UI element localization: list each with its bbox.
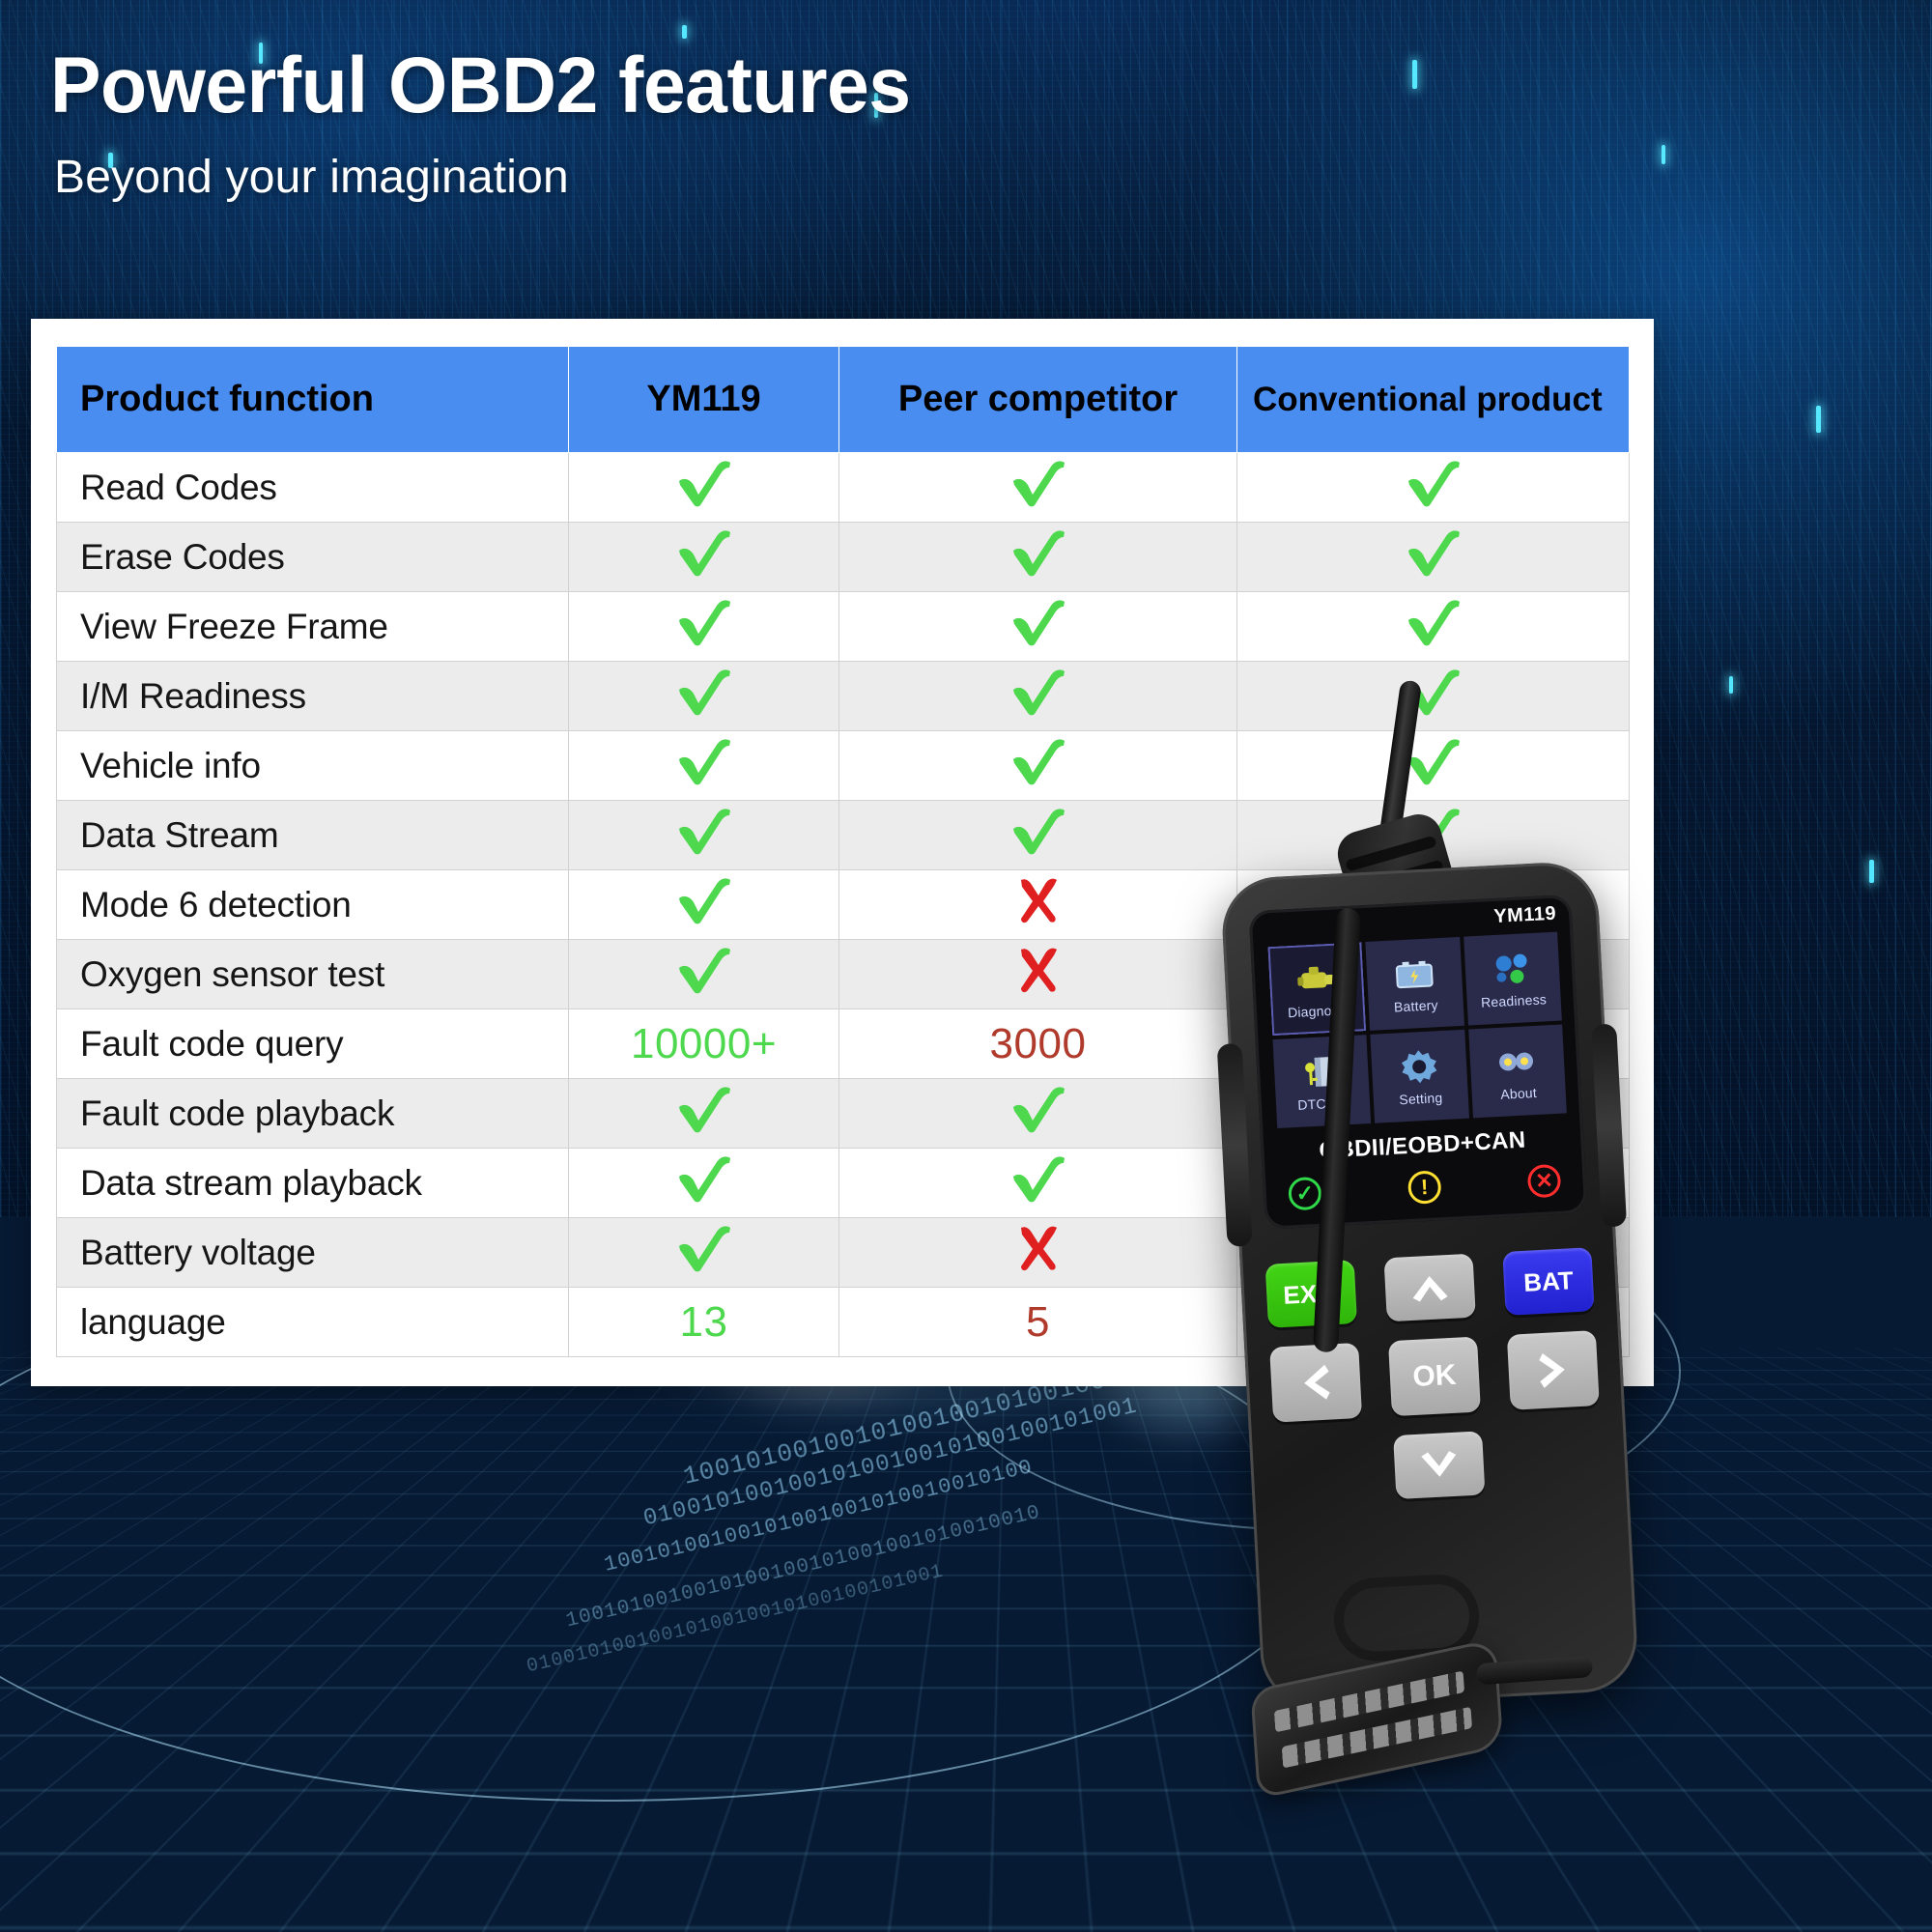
check-icon [1009,1153,1068,1204]
menu-tile-about[interactable]: About [1468,1024,1567,1118]
row-label: Read Codes [57,453,569,523]
check-icon [674,1223,734,1273]
cell-peer-competitor [839,731,1237,801]
gear-icon [1396,1046,1442,1087]
screen-protocol-label: OBDII/EOBD+CAN [1261,1123,1584,1167]
row-label: Fault code playback [57,1079,569,1149]
device-screen: YM119 DiagnosisBatteryReadinessDTC LibSe… [1249,895,1588,1230]
page-subtitle: Beyond your imagination [54,151,569,204]
cell-ym119: 13 [569,1288,839,1357]
value-text: 5 [1026,1298,1050,1346]
row-label: Battery voltage [57,1218,569,1288]
background-spark [682,25,687,39]
cell-conventional-product [1237,523,1630,592]
table-row: View Freeze Frame [57,592,1630,662]
menu-tile-readiness[interactable]: Readiness [1463,932,1562,1026]
up-button[interactable] [1383,1254,1475,1322]
page-title: Powerful OBD2 features [50,41,911,131]
check-icon [1009,667,1068,717]
check-icon [1404,597,1463,647]
cell-peer-competitor [839,592,1237,662]
status-ok-icon: ✓ [1288,1177,1322,1211]
cell-peer-competitor [839,1149,1237,1218]
molecule-icon [1489,948,1535,988]
info-icon [1493,1040,1540,1081]
cell-ym119 [569,1149,839,1218]
check-icon [1009,597,1068,647]
check-icon [1404,458,1463,508]
cell-ym119 [569,801,839,870]
check-icon [674,458,734,508]
row-label: Data stream playback [57,1149,569,1218]
left-button[interactable] [1269,1343,1362,1423]
down-button[interactable] [1393,1431,1485,1499]
menu-tile-dtc-lib[interactable]: DTC Lib [1272,1035,1371,1128]
row-label: Erase Codes [57,523,569,592]
background-spark [1412,60,1417,89]
row-label: View Freeze Frame [57,592,569,662]
status-warning-icon: ! [1407,1170,1442,1205]
cell-peer-competitor: 3000 [839,1009,1237,1079]
cross-icon [1013,1224,1064,1272]
device-body: YM119 DiagnosisBatteryReadinessDTC LibSe… [1220,860,1639,1709]
table-header: Product function YM119 Peer competitor C… [57,347,1630,453]
cell-peer-competitor [839,870,1237,940]
battery-test-button[interactable]: BAT [1502,1247,1594,1316]
cell-ym119 [569,731,839,801]
device-grip-right [1591,1024,1627,1228]
obd2-scanner-device: YM119 DiagnosisBatteryReadinessDTC LibSe… [1241,676,1918,1932]
cell-ym119: 10000+ [569,1009,839,1079]
menu-tile-setting[interactable]: Setting [1371,1030,1469,1123]
exit-button[interactable]: EXIT [1265,1260,1357,1328]
check-icon [674,597,734,647]
check-icon [1009,736,1068,786]
cell-peer-competitor [839,523,1237,592]
screen-menu-grid: DiagnosisBatteryReadinessDTC LibSettingA… [1267,932,1566,1128]
column-header-ym119: YM119 [569,347,839,453]
cell-conventional-product [1237,453,1630,523]
column-header-product-function: Product function [57,347,569,453]
cell-ym119 [569,592,839,662]
cell-ym119 [569,662,839,731]
row-label: Vehicle info [57,731,569,801]
value-text: 3000 [990,1020,1087,1067]
screen-model-label: YM119 [1493,903,1557,928]
column-header-conventional-product: Conventional product [1237,347,1630,453]
infographic-page: 1001010010010100100101001001010010010 01… [0,0,1932,1932]
cell-peer-competitor [839,453,1237,523]
cell-ym119 [569,1079,839,1149]
ok-button[interactable]: OK [1388,1337,1481,1417]
cell-ym119 [569,870,839,940]
check-icon [674,1153,734,1204]
check-icon [1009,527,1068,578]
row-label: Oxygen sensor test [57,940,569,1009]
check-icon [1009,806,1068,856]
cell-ym119 [569,940,839,1009]
row-label: I/M Readiness [57,662,569,731]
cell-ym119 [569,453,839,523]
cell-ym119 [569,523,839,592]
menu-tile-label: Setting [1399,1090,1443,1107]
check-icon [674,875,734,925]
menu-tile-label: Readiness [1481,991,1548,1010]
menu-tile-label: Battery [1394,997,1439,1014]
column-header-peer-competitor: Peer competitor [839,347,1237,453]
row-label: Mode 6 detection [57,870,569,940]
row-label: language [57,1288,569,1357]
check-icon [1009,458,1068,508]
menu-tile-label: About [1500,1084,1537,1101]
cell-conventional-product [1237,592,1630,662]
cell-ym119 [569,1218,839,1288]
row-label: Data Stream [57,801,569,870]
check-icon [674,736,734,786]
cell-peer-competitor [839,1218,1237,1288]
cross-icon [1013,946,1064,994]
value-text: 13 [680,1298,728,1346]
row-label: Fault code query [57,1009,569,1079]
check-icon [674,806,734,856]
background-spark [1816,406,1821,433]
value-text: 10000+ [631,1020,777,1067]
check-icon [1404,527,1463,578]
battery-icon [1391,953,1437,994]
check-icon [674,1084,734,1134]
table-row: Erase Codes [57,523,1630,592]
table-header-row: Product function YM119 Peer competitor C… [57,347,1630,453]
right-button[interactable] [1507,1330,1600,1410]
check-icon [1009,1084,1068,1134]
cell-peer-competitor [839,662,1237,731]
cell-peer-competitor: 5 [839,1288,1237,1357]
check-icon [674,667,734,717]
check-icon [674,527,734,578]
background-spark [1662,145,1665,164]
cross-icon [1013,876,1064,924]
status-error-icon: ✕ [1527,1164,1562,1199]
cell-peer-competitor [839,940,1237,1009]
check-icon [674,945,734,995]
cell-peer-competitor [839,1079,1237,1149]
table-row: Read Codes [57,453,1630,523]
cell-peer-competitor [839,801,1237,870]
menu-tile-battery[interactable]: Battery [1366,937,1464,1031]
